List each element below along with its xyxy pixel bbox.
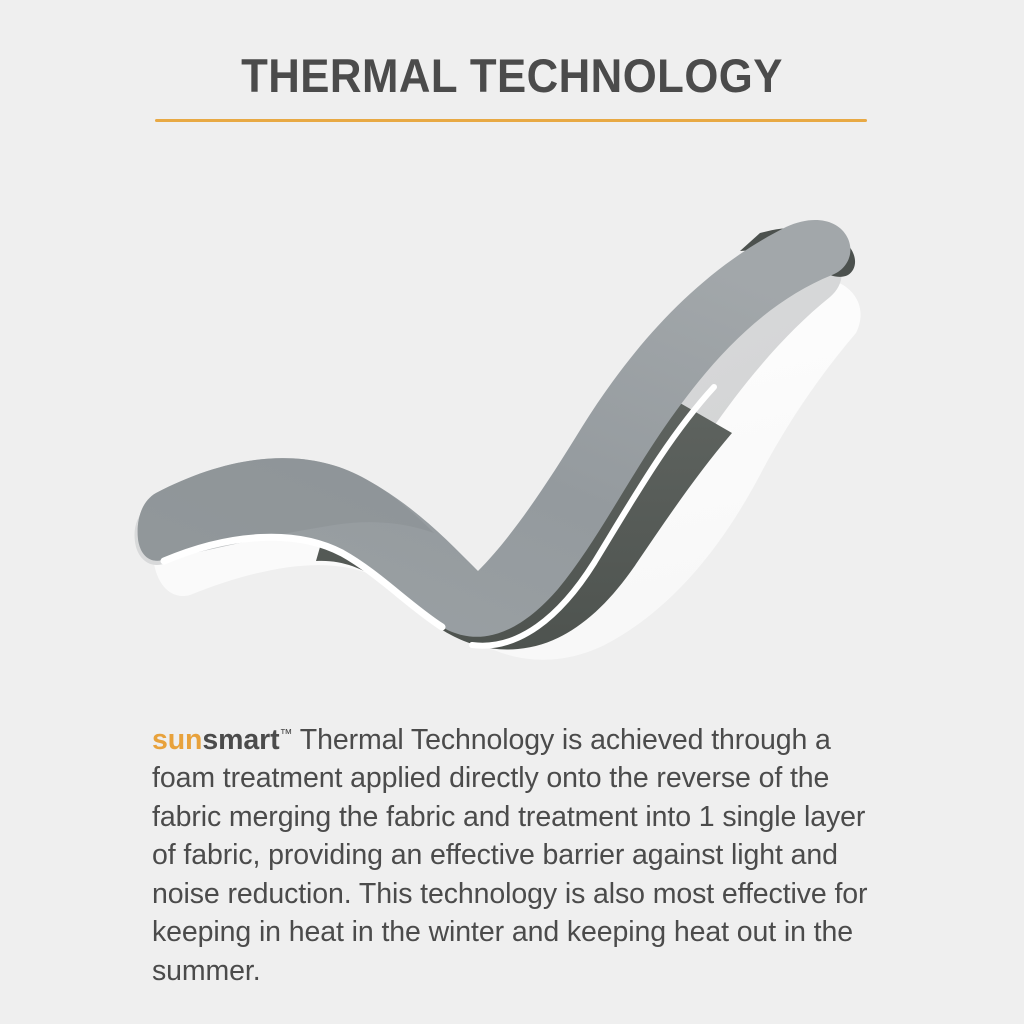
sunsmart-logotype: sunsmart™: [152, 724, 293, 756]
trademark-symbol: ™: [280, 726, 293, 741]
layered-fabric-graphic: [120, 175, 904, 665]
page-title: THERMAL TECHNOLOGY: [36, 48, 988, 104]
title-divider-rule: [155, 119, 867, 122]
thermal-technology-panel: THERMAL TECHNOLOGY: [0, 0, 1024, 1024]
brand-smart-text: smart: [202, 724, 279, 756]
header: THERMAL TECHNOLOGY: [0, 0, 1024, 150]
description-paragraph: sunsmart™ Thermal Technology is achieved…: [152, 715, 874, 991]
brand-sun-text: sun: [152, 724, 202, 756]
fabric-illustration: [120, 175, 904, 665]
description-text: Thermal Technology is achieved through a…: [152, 724, 867, 987]
